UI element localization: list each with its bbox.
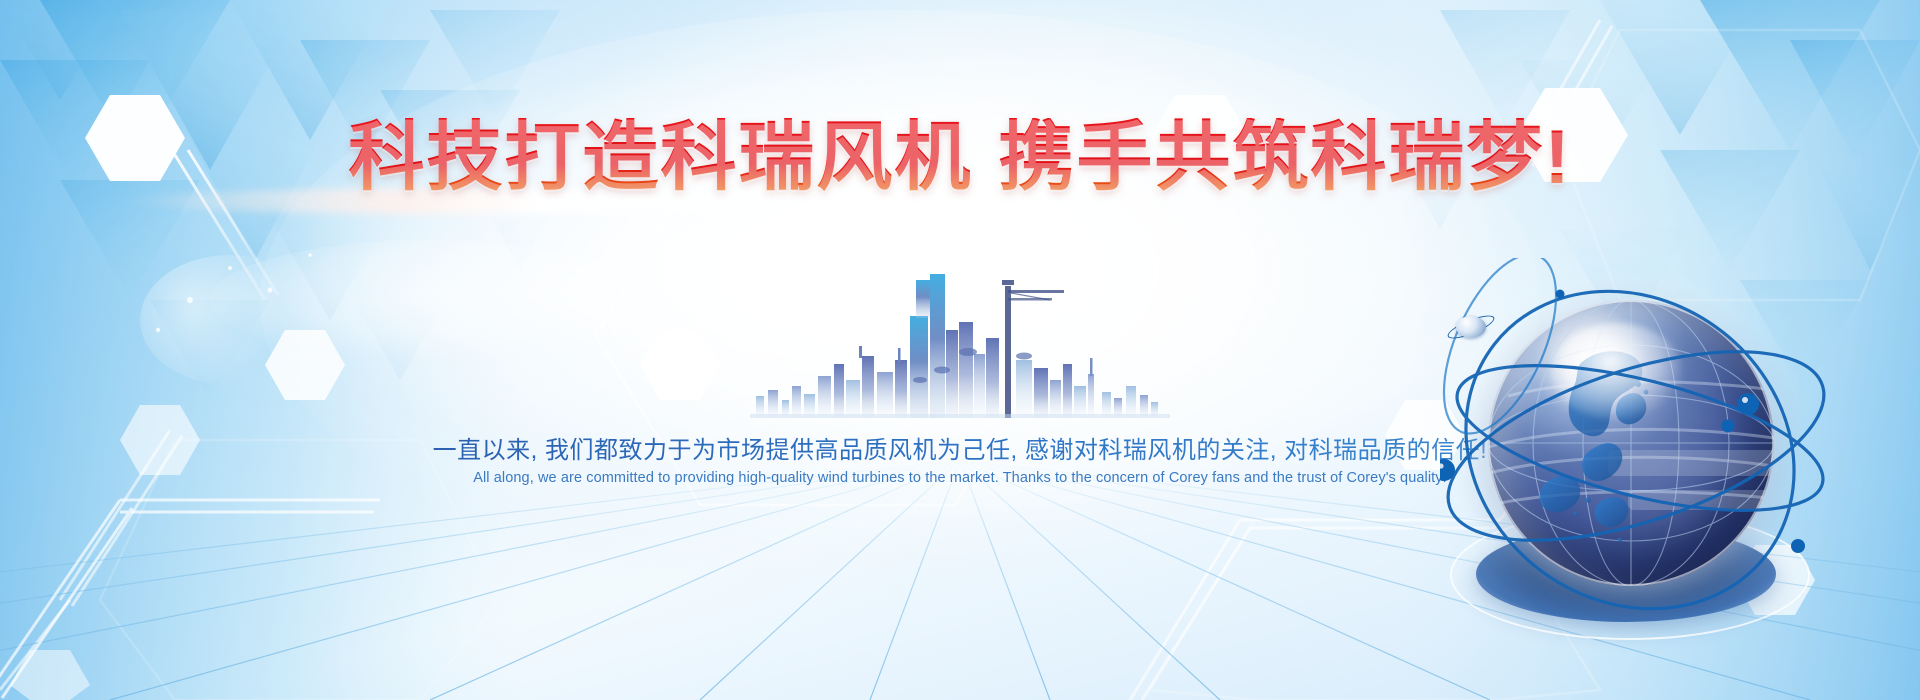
- city-skyline-silhouette: [750, 268, 1170, 418]
- satellite-ring: [1445, 311, 1497, 343]
- hero-banner: 科技打造科瑞风机携手共筑科瑞梦! 一直以来, 我们都致力于为市场提供高品质风机为…: [0, 0, 1920, 700]
- headline-line-1: 科技打造科瑞风机: [348, 115, 972, 200]
- sparkle-cluster: [140, 255, 320, 385]
- subtitle-english: All along, we are committed to providing…: [0, 470, 1920, 486]
- orbiting-satellite: [1446, 306, 1498, 346]
- satellite-body: [1456, 316, 1486, 338]
- perspective-grid-floor: [0, 460, 1920, 700]
- globe-specular-highlight: [1551, 323, 1683, 420]
- hexagon-network-pattern: [0, 0, 1920, 700]
- page-title: 科技打造科瑞风机携手共筑科瑞梦!: [0, 118, 1920, 198]
- globe-shadow-base: [1476, 526, 1776, 622]
- subtitle-chinese: 一直以来, 我们都致力于为市场提供高品质风机为己任, 感谢对科瑞风机的关注, 对…: [0, 430, 1920, 465]
- globe-ring-plate: [1450, 510, 1810, 640]
- headline-line-2: 携手共筑科瑞梦!: [998, 115, 1571, 200]
